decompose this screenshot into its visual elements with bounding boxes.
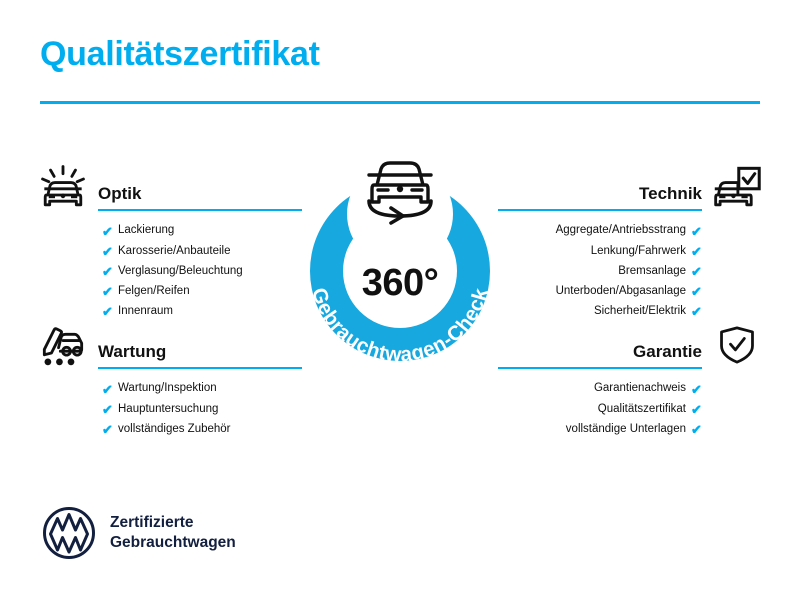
list-item-label: Wartung/Inspektion bbox=[118, 383, 217, 395]
section-technik: Technik ✔ Aggregate/Antriebsstrang ✔ Len… bbox=[498, 160, 764, 322]
list-item-label: Innenraum bbox=[118, 306, 173, 318]
list-item: ✔ Karosserie/Anbauteile bbox=[102, 241, 302, 261]
section-title: Wartung bbox=[98, 343, 302, 367]
section-title: Optik bbox=[98, 185, 302, 209]
section-garantie: Garantie ✔ Garantienachweis ✔ Qualitätsz… bbox=[498, 318, 764, 440]
check-icon: ✔ bbox=[102, 285, 113, 298]
list-item-label: Karosserie/Anbauteile bbox=[118, 246, 231, 258]
list-item: ✔ Qualitätszertifikat bbox=[498, 399, 702, 419]
list-item-label: Felgen/Reifen bbox=[118, 286, 190, 298]
badge-360-check: Gebrauchtwagen-Check 360° bbox=[288, 152, 512, 380]
list-item: ✔ Lenkung/Fahrwerk bbox=[498, 241, 702, 261]
badge-center-label: 360° bbox=[288, 264, 512, 302]
list-item-label: vollständiges Zubehör bbox=[118, 424, 231, 436]
volkswagen-lockup: Zertifizierte Gebrauchtwagen bbox=[42, 506, 236, 560]
list-item: ✔ Lackierung bbox=[102, 221, 302, 241]
checklist-garantie: ✔ Garantienachweis ✔ Qualitätszertifikat… bbox=[498, 379, 764, 440]
checklist-optik: ✔ Lackierung ✔ Karosserie/Anbauteile ✔ V… bbox=[36, 221, 302, 322]
check-icon: ✔ bbox=[102, 245, 113, 258]
section-title-wrap-optik: Optik bbox=[98, 185, 302, 212]
list-item-label: Aggregate/Antriebsstrang bbox=[556, 225, 686, 237]
section-header-garantie: Garantie bbox=[498, 318, 764, 370]
check-icon: ✔ bbox=[102, 225, 113, 238]
list-item-label: Verglasung/Beleuchtung bbox=[118, 266, 243, 278]
check-icon: ✔ bbox=[691, 305, 702, 318]
section-underline bbox=[498, 209, 702, 211]
section-title: Technik bbox=[498, 185, 702, 209]
section-underline bbox=[498, 367, 702, 369]
section-underline bbox=[98, 367, 302, 369]
shield-check-icon bbox=[710, 320, 764, 370]
section-title-wrap-technik: Technik bbox=[498, 185, 702, 212]
list-item: ✔ Bremsanlage bbox=[498, 261, 702, 281]
list-item: ✔ Verglasung/Beleuchtung bbox=[102, 261, 302, 281]
list-item-label: Qualitätszertifikat bbox=[598, 404, 686, 416]
check-icon: ✔ bbox=[102, 383, 113, 396]
check-icon: ✔ bbox=[691, 265, 702, 278]
car-checkbox-icon bbox=[710, 162, 764, 212]
car-rotate-icon bbox=[355, 154, 445, 228]
check-icon: ✔ bbox=[691, 383, 702, 396]
list-item: ✔ Felgen/Reifen bbox=[102, 282, 302, 302]
page-title: Qualitätszertifikat bbox=[40, 36, 320, 73]
car-shine-icon bbox=[36, 162, 90, 212]
list-item-label: Unterboden/Abgasanlage bbox=[556, 286, 686, 298]
check-icon: ✔ bbox=[691, 225, 702, 238]
list-item-label: Garantienachweis bbox=[594, 383, 686, 395]
check-icon: ✔ bbox=[691, 245, 702, 258]
list-item-label: Sicherheit/Elektrik bbox=[594, 306, 686, 318]
list-item: ✔ Garantienachweis bbox=[498, 379, 702, 399]
service-book-car-icon bbox=[36, 320, 90, 370]
list-item-label: Hauptuntersuchung bbox=[118, 404, 218, 416]
list-item-label: vollständige Unterlagen bbox=[566, 424, 686, 436]
list-item: ✔ Unterboden/Abgasanlage bbox=[498, 282, 702, 302]
lockup-line-1: Zertifizierte bbox=[110, 513, 236, 533]
list-item-label: Lenkung/Fahrwerk bbox=[591, 246, 686, 258]
volkswagen-lockup-text: Zertifizierte Gebrauchtwagen bbox=[110, 513, 236, 553]
section-header-optik: Optik bbox=[36, 160, 302, 212]
lockup-line-2: Gebrauchtwagen bbox=[110, 533, 236, 553]
checklist-technik: ✔ Aggregate/Antriebsstrang ✔ Lenkung/Fah… bbox=[498, 221, 764, 322]
section-title-wrap-garantie: Garantie bbox=[498, 343, 702, 370]
list-item: ✔ vollständige Unterlagen bbox=[498, 419, 702, 439]
section-optik: Optik ✔ Lackierung ✔ Karosserie/Anbautei… bbox=[36, 160, 302, 322]
certificate-page: Qualitätszertifikat bbox=[0, 0, 800, 600]
volkswagen-logo bbox=[42, 506, 96, 560]
check-icon: ✔ bbox=[102, 265, 113, 278]
check-icon: ✔ bbox=[102, 403, 113, 416]
list-item: ✔ Aggregate/Antriebsstrang bbox=[498, 221, 702, 241]
check-icon: ✔ bbox=[691, 403, 702, 416]
check-icon: ✔ bbox=[102, 305, 113, 318]
list-item: ✔ Hauptuntersuchung bbox=[102, 399, 302, 419]
section-underline bbox=[98, 209, 302, 211]
header-divider bbox=[40, 101, 760, 104]
section-wartung: Wartung ✔ Wartung/Inspektion ✔ Hauptunte… bbox=[36, 318, 302, 440]
check-icon: ✔ bbox=[691, 423, 702, 436]
check-icon: ✔ bbox=[691, 285, 702, 298]
section-header-wartung: Wartung bbox=[36, 318, 302, 370]
section-title: Garantie bbox=[498, 343, 702, 367]
section-title-wrap-wartung: Wartung bbox=[98, 343, 302, 370]
list-item-label: Bremsanlage bbox=[618, 266, 686, 278]
list-item: ✔ vollständiges Zubehör bbox=[102, 419, 302, 439]
section-header-technik: Technik bbox=[498, 160, 764, 212]
list-item: ✔ Wartung/Inspektion bbox=[102, 379, 302, 399]
list-item-label: Lackierung bbox=[118, 225, 174, 237]
checklist-wartung: ✔ Wartung/Inspektion ✔ Hauptuntersuchung… bbox=[36, 379, 302, 440]
check-icon: ✔ bbox=[102, 423, 113, 436]
